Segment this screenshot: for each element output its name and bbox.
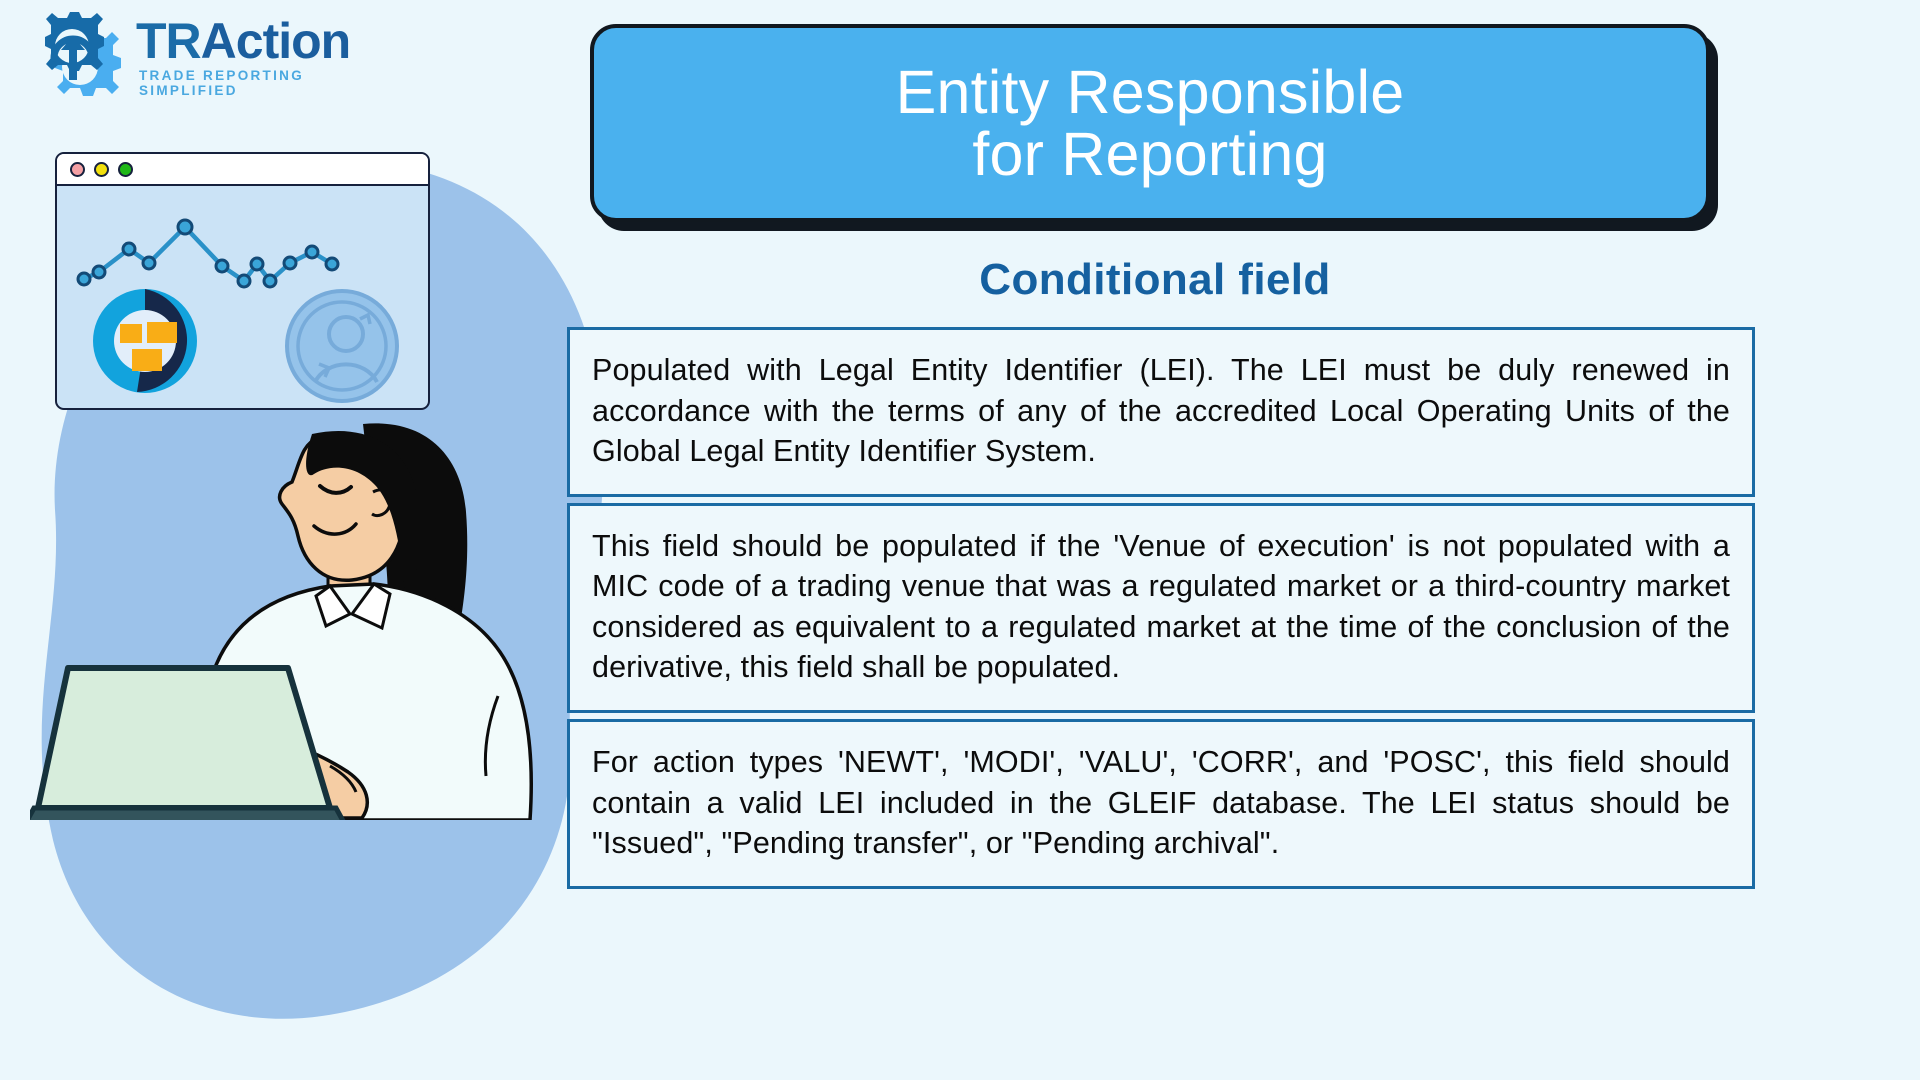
content-box-text: For action types 'NEWT', 'MODI', 'VALU',… [592, 742, 1730, 864]
maximize-dot-icon [118, 162, 133, 177]
banner-surface: Entity Responsible for Reporting [590, 24, 1710, 222]
infographic-page: TRAction TRADE REPORTING SIMPLIFIED [0, 0, 1920, 1080]
donut-chart-icon [93, 289, 197, 393]
dashboard-window-illustration [55, 152, 430, 410]
close-dot-icon [70, 162, 85, 177]
right-content-column: Entity Responsible for Reporting Conditi… [700, 0, 1920, 1080]
dashboard-graphics [57, 186, 427, 408]
page-title-line-1: Entity Responsible [896, 61, 1405, 123]
brand-wordmark: TRAction TRADE REPORTING SIMPLIFIED [136, 18, 390, 98]
page-title: Entity Responsible for Reporting [896, 61, 1405, 185]
section-subtitle: Conditional field [590, 255, 1720, 305]
user-coin-icon [287, 291, 397, 401]
brand-logo: TRAction TRADE REPORTING SIMPLIFIED [30, 8, 390, 108]
window-titlebar [57, 154, 428, 186]
gear-upload-icon [30, 12, 126, 104]
person-at-laptop-icon [30, 400, 570, 820]
content-box-text: This field should be populated if the 'V… [592, 526, 1730, 688]
content-box: For action types 'NEWT', 'MODI', 'VALU',… [567, 719, 1755, 889]
content-box: This field should be populated if the 'V… [567, 503, 1755, 713]
window-body [57, 186, 428, 408]
brand-tagline: TRADE REPORTING SIMPLIFIED [139, 68, 390, 98]
brand-name: TRAction [136, 18, 390, 66]
minimize-dot-icon [94, 162, 109, 177]
browser-window-icon [55, 152, 430, 410]
line-chart-icon [84, 227, 332, 281]
header-banner: Entity Responsible for Reporting [590, 24, 1720, 224]
content-box: Populated with Legal Entity Identifier (… [567, 327, 1755, 497]
page-title-line-2: for Reporting [896, 123, 1405, 185]
content-box-text: Populated with Legal Entity Identifier (… [592, 350, 1730, 472]
content-box-list: Populated with Legal Entity Identifier (… [567, 327, 1755, 889]
